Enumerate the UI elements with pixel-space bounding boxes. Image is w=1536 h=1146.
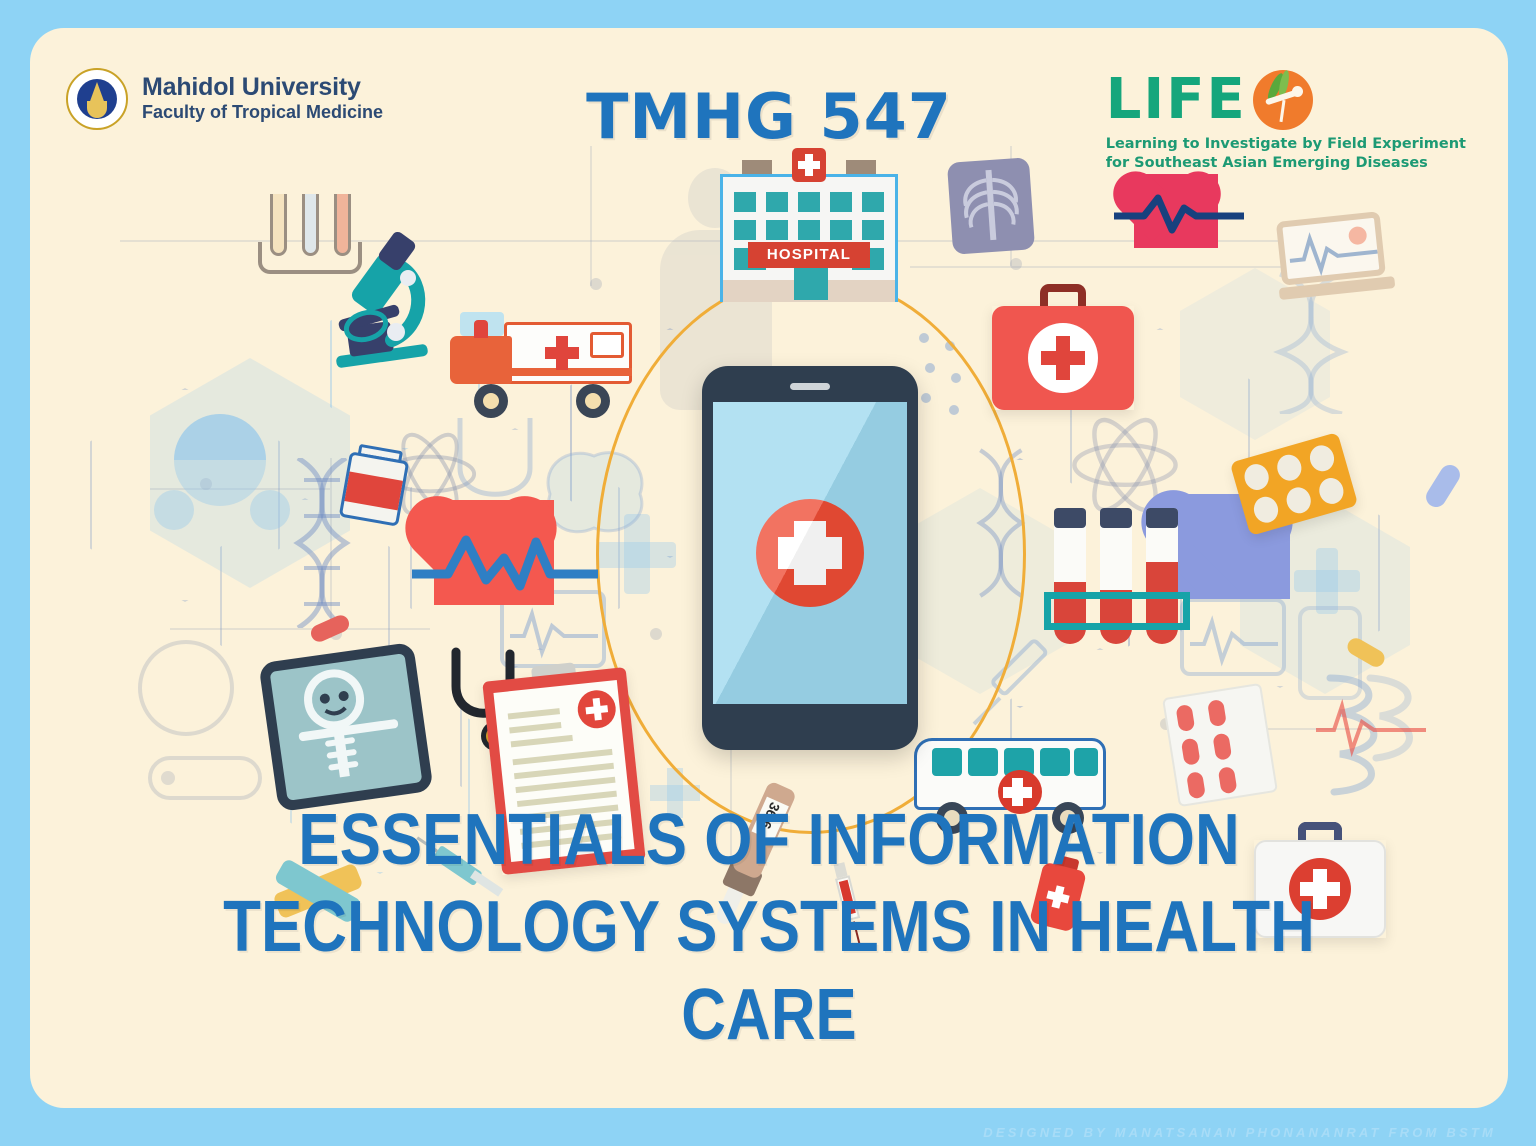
microscope-icon [322,228,442,368]
pill-blister-pack-icon [1230,432,1359,536]
phone-screen-gloss [713,402,907,704]
intestine-faint-icon [1310,668,1430,798]
hospital-sign-label: HOSPITAL [748,242,870,268]
poster-title: ESSENTIALS OF INFORMATION TECHNOLOGY SYS… [30,797,1508,1060]
life-tagline-2: for Southeast Asian Emerging Diseases [1106,154,1466,173]
designer-credit: DESIGNED BY MANATSANAN PHONANANRAT FROM … [983,1125,1496,1140]
pills-faint-icon [150,410,300,540]
laptop-monitor-icon [1276,210,1396,307]
title-line-1: ESSENTIALS OF INFORMATION [133,797,1404,885]
poster-root: Mahidol University Faculty of Tropical M… [0,0,1536,1146]
phone-speaker [790,383,830,390]
hospital-building-icon: HOSPITAL [720,174,898,302]
capsule-pill-icon-2 [308,613,351,645]
course-code: TMHG 547 [30,80,1508,153]
medicine-bottle-icon [339,451,410,526]
xray-skeleton-icon [258,642,433,812]
phone-screen[interactable] [713,402,907,704]
poster-card: Mahidol University Faculty of Tropical M… [30,28,1508,1108]
heart-with-pulse-icon [434,500,570,624]
lab-outline-faint-icon [126,628,286,808]
capsule-pill-icon-3 [1344,635,1387,670]
blood-sample-tubes-icon [1050,508,1186,644]
ecg-monitor-faint-icon-2 [1178,596,1288,686]
title-line-2: TECHNOLOGY SYSTEMS IN HEALTH CARE [133,884,1404,1060]
first-aid-kit-icon [992,306,1134,410]
ecg-line-faint-icon [1316,692,1426,762]
capsule-blister-pack-icon [1162,683,1278,807]
smartphone-health-app-icon[interactable] [702,366,918,750]
capsule-pill-icon [1422,461,1463,511]
ambulance-truck-icon [450,306,634,418]
pink-heart-pulse-icon [1134,174,1220,252]
chest-xray-icon [947,157,1035,254]
